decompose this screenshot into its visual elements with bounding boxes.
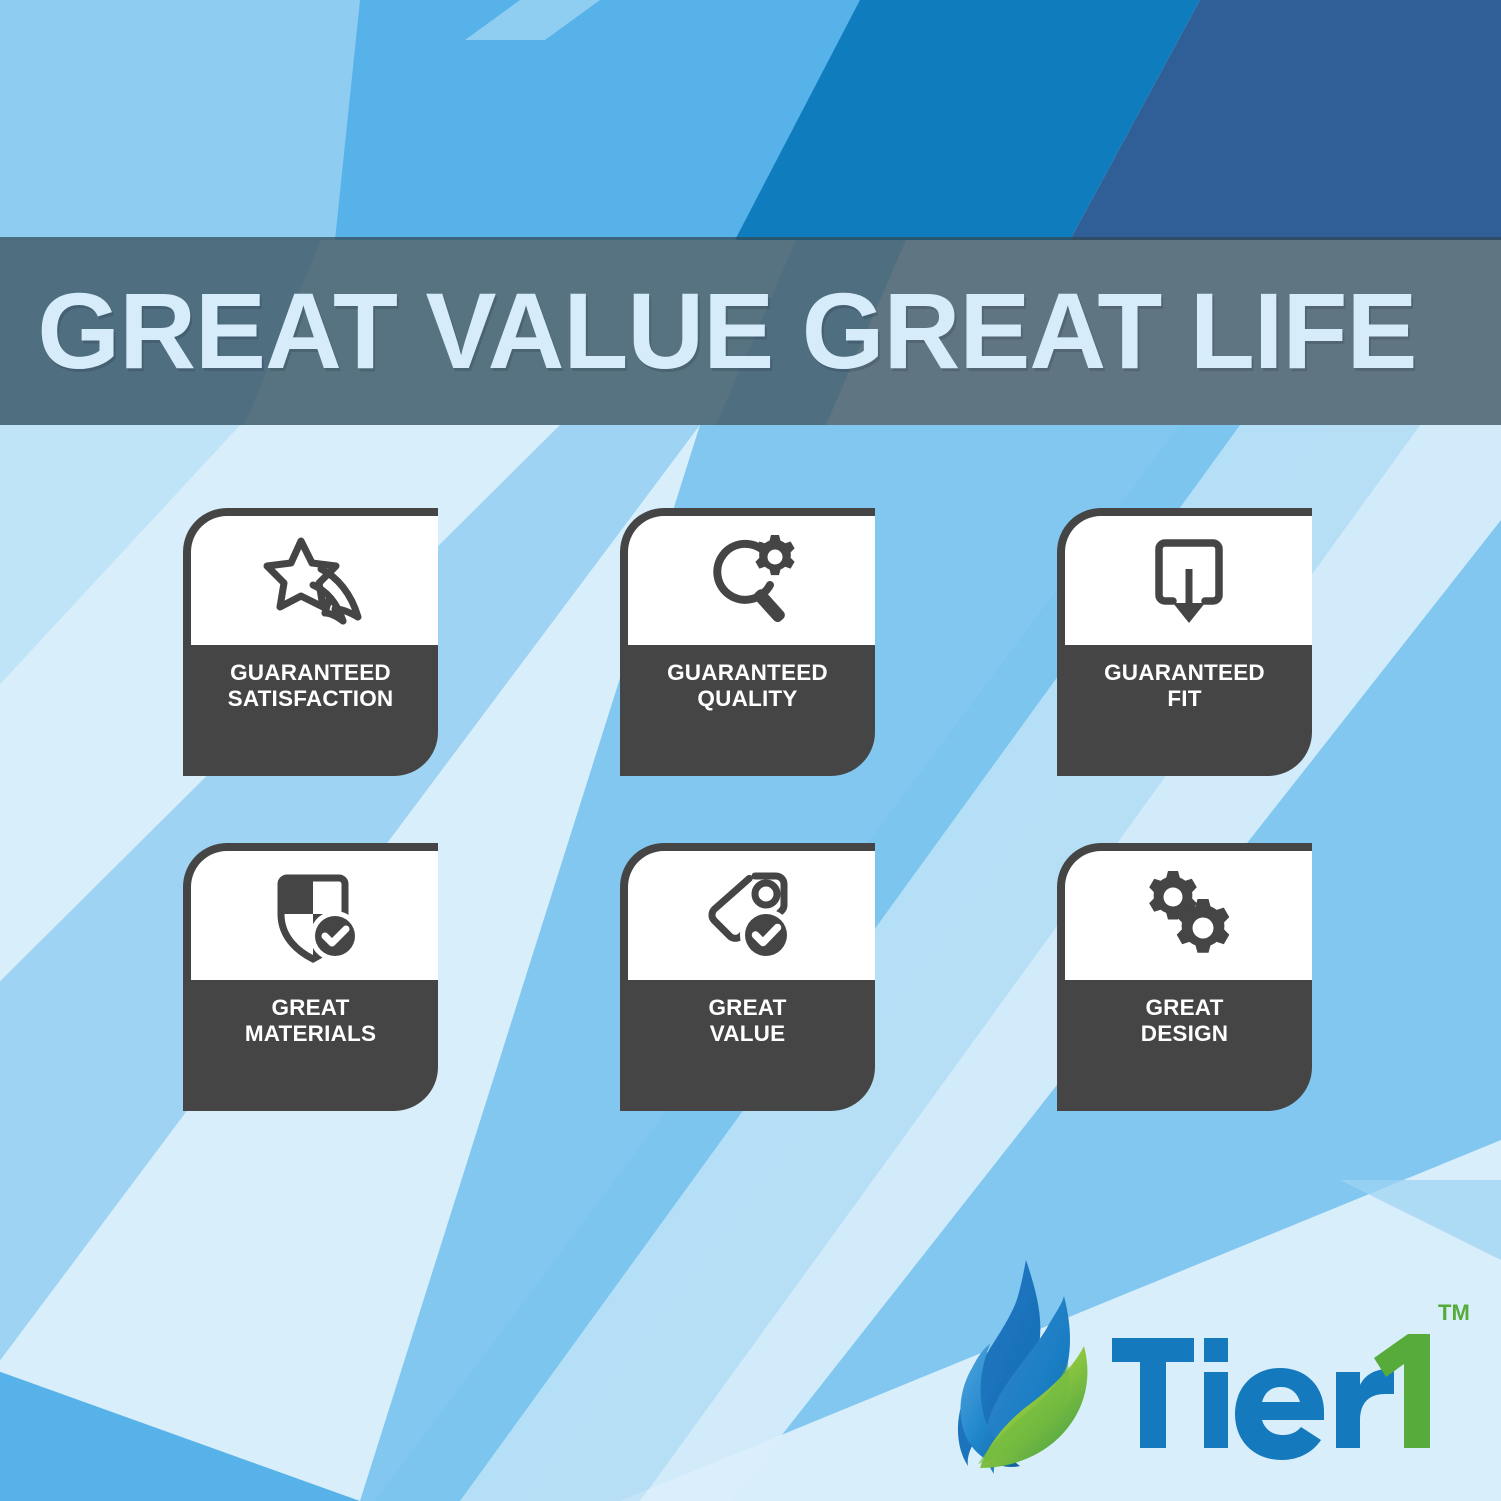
badge-label-line1: GREAT — [271, 995, 349, 1020]
shield-check-icon — [263, 864, 367, 968]
badge-guaranteed-satisfaction[interactable]: GUARANTEED SATISFACTION — [183, 508, 438, 776]
badge-label: GUARANTEED QUALITY — [620, 660, 875, 713]
badge-label-line1: GUARANTEED — [1104, 660, 1265, 685]
badge-art — [1065, 851, 1312, 980]
badge-label-line1: GREAT — [708, 995, 786, 1020]
badge-art — [191, 516, 438, 645]
tier1-logo[interactable]: TM — [952, 1252, 1472, 1484]
gears-icon — [1137, 864, 1241, 968]
badge-label-line2: DESIGN — [1063, 1021, 1306, 1047]
badge-label-line1: GREAT — [1145, 995, 1223, 1020]
water-drop-leaf-icon — [958, 1260, 1087, 1474]
badge-label-line1: GUARANTEED — [230, 660, 391, 685]
price-tag-check-icon — [700, 864, 804, 968]
feature-badge-grid: GUARANTEED SATISFACTION — [183, 508, 1333, 1178]
badge-art — [191, 851, 438, 980]
badge-label: GREAT VALUE — [620, 995, 875, 1048]
badge-great-value[interactable]: GREAT VALUE — [620, 843, 875, 1111]
badge-label: GREAT MATERIALS — [183, 995, 438, 1048]
badge-guaranteed-quality[interactable]: GUARANTEED QUALITY — [620, 508, 875, 776]
badge-great-materials[interactable]: GREAT MATERIALS — [183, 843, 438, 1111]
tier1-wordmark — [1112, 1338, 1394, 1460]
box-down-arrow-icon — [1137, 529, 1241, 633]
badge-label: GUARANTEED SATISFACTION — [183, 660, 438, 713]
badge-label-line2: FIT — [1063, 686, 1306, 712]
badge-guaranteed-fit[interactable]: GUARANTEED FIT — [1057, 508, 1312, 776]
badge-art — [628, 516, 875, 645]
shooting-star-icon — [263, 529, 367, 633]
page-title: GREAT VALUE GREAT LIFE — [0, 277, 1416, 385]
badge-label-line2: QUALITY — [626, 686, 869, 712]
badge-row-top: GUARANTEED SATISFACTION — [183, 508, 1333, 776]
badge-label-line2: SATISFACTION — [189, 686, 432, 712]
badge-label-line1: GUARANTEED — [667, 660, 828, 685]
badge-label-line2: VALUE — [626, 1021, 869, 1047]
poster-canvas: GREAT VALUE GREAT LIFE — [0, 0, 1501, 1501]
badge-label: GREAT DESIGN — [1057, 995, 1312, 1048]
magnifier-gear-icon — [700, 529, 804, 633]
headline-banner: GREAT VALUE GREAT LIFE — [0, 237, 1501, 425]
badge-label: GUARANTEED FIT — [1057, 660, 1312, 713]
badge-art — [1065, 516, 1312, 645]
badge-great-design[interactable]: GREAT DESIGN — [1057, 843, 1312, 1111]
badge-art — [628, 851, 875, 980]
trademark-symbol: TM — [1438, 1300, 1470, 1325]
badge-row-bottom: GREAT MATERIALS GREAT VAL — [183, 843, 1333, 1111]
badge-label-line2: MATERIALS — [189, 1021, 432, 1047]
